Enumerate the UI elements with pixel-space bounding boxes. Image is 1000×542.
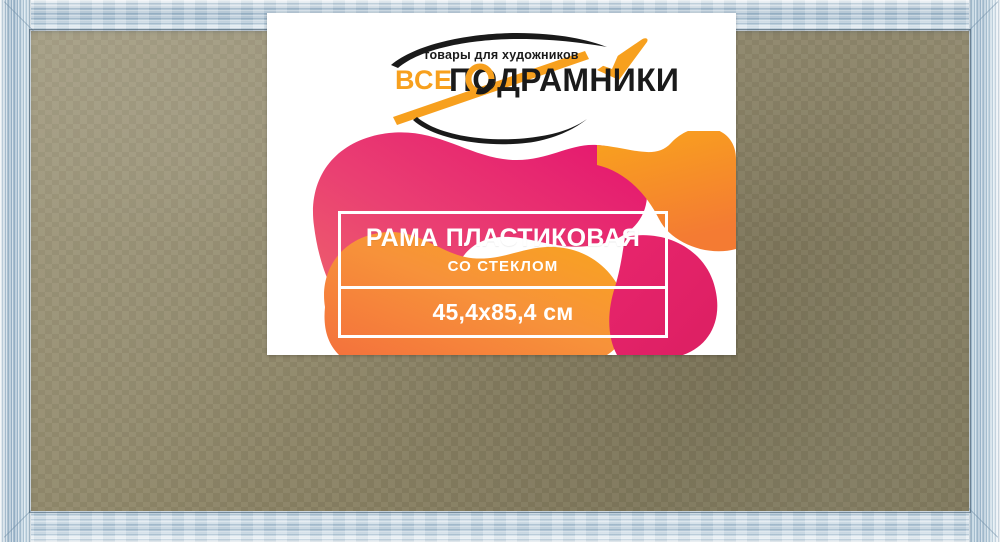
logo-tagline: товары для художников bbox=[423, 48, 578, 62]
label-title-box: РАМА ПЛАСТИКОВАЯ СО СТЕКЛОМ bbox=[338, 211, 668, 289]
label-subtitle: СО СТЕКЛОМ bbox=[448, 259, 559, 274]
label-size-box: 45,4x85,4 см bbox=[338, 286, 668, 338]
label-title: РАМА ПЛАСТИКОВАЯ bbox=[366, 226, 640, 251]
frame-rail-left bbox=[0, 0, 31, 542]
label-size: 45,4x85,4 см bbox=[433, 301, 574, 324]
product-label: товары для художников ВСЕ ПОДРАМНИКИ bbox=[267, 13, 736, 355]
product-photo: товары для художников ВСЕ ПОДРАМНИКИ bbox=[0, 0, 1000, 542]
frame-rail-bottom bbox=[0, 511, 1000, 542]
frame-rail-right bbox=[969, 0, 1000, 542]
logo-brand-first: ВСЕ bbox=[395, 65, 452, 95]
brand-logo: товары для художников ВСЕ ПОДРАМНИКИ bbox=[267, 13, 736, 145]
